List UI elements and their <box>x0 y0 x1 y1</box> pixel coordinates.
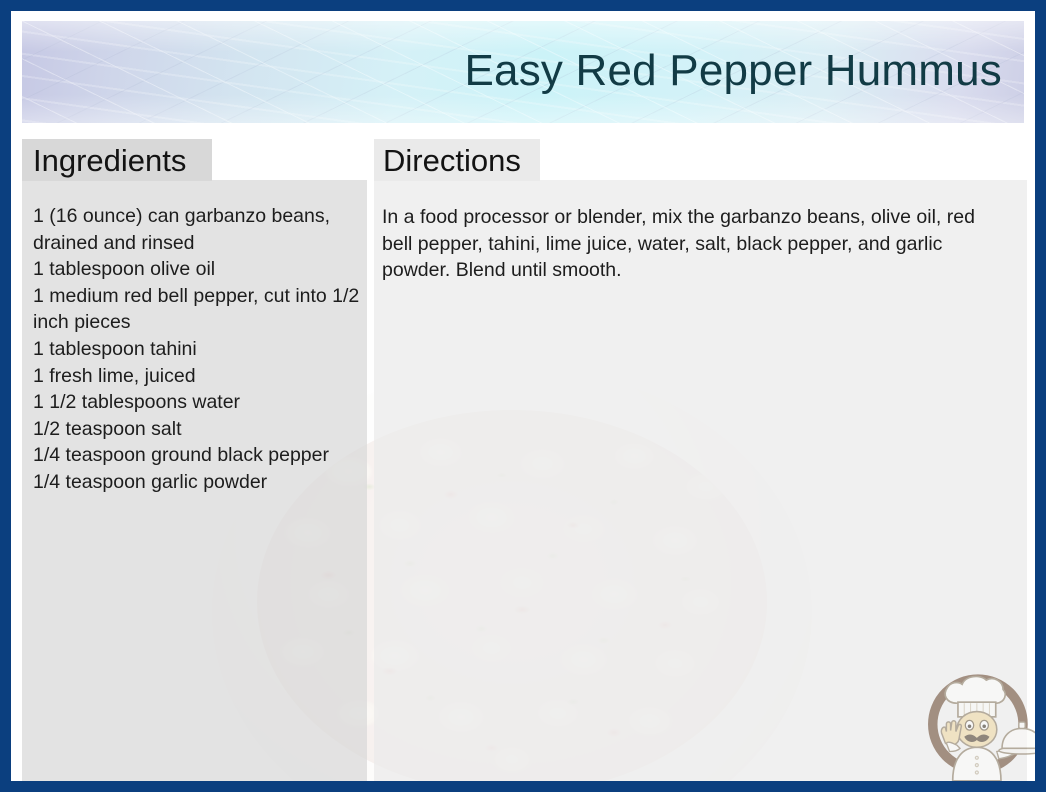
list-item: 1/2 teaspoon salt <box>33 416 369 443</box>
directions-text: In a food processor or blender, mix the … <box>382 204 1004 284</box>
list-item: 1 tablespoon tahini <box>33 336 369 363</box>
header-banner: Easy Red Pepper Hummus <box>22 21 1024 123</box>
list-item: 1 medium red bell pepper, cut into 1/2 i… <box>33 283 369 336</box>
list-item: 1 1/2 tablespoons water <box>33 389 369 416</box>
recipe-slide: Easy Red Pepper Hummus Ingredients 1 (16… <box>0 0 1046 792</box>
list-item: 1/4 teaspoon garlic powder <box>33 469 369 496</box>
list-item: 1/4 teaspoon ground black pepper <box>33 442 369 469</box>
directions-tab: Directions <box>374 139 540 181</box>
chef-logo <box>917 657 1043 783</box>
ingredients-list: 1 (16 ounce) can garbanzo beans, drained… <box>33 203 369 496</box>
ingredients-tab: Ingredients <box>22 139 212 181</box>
directions-step: In a food processor or blender, mix the … <box>382 204 1004 284</box>
directions-tab-label: Directions <box>383 145 521 176</box>
list-item: 1 (16 ounce) can garbanzo beans, drained… <box>33 203 369 256</box>
list-item: 1 tablespoon olive oil <box>33 256 369 283</box>
ingredients-tab-label: Ingredients <box>33 145 186 176</box>
list-item: 1 fresh lime, juiced <box>33 363 369 390</box>
page-title: Easy Red Pepper Hummus <box>464 48 1002 94</box>
